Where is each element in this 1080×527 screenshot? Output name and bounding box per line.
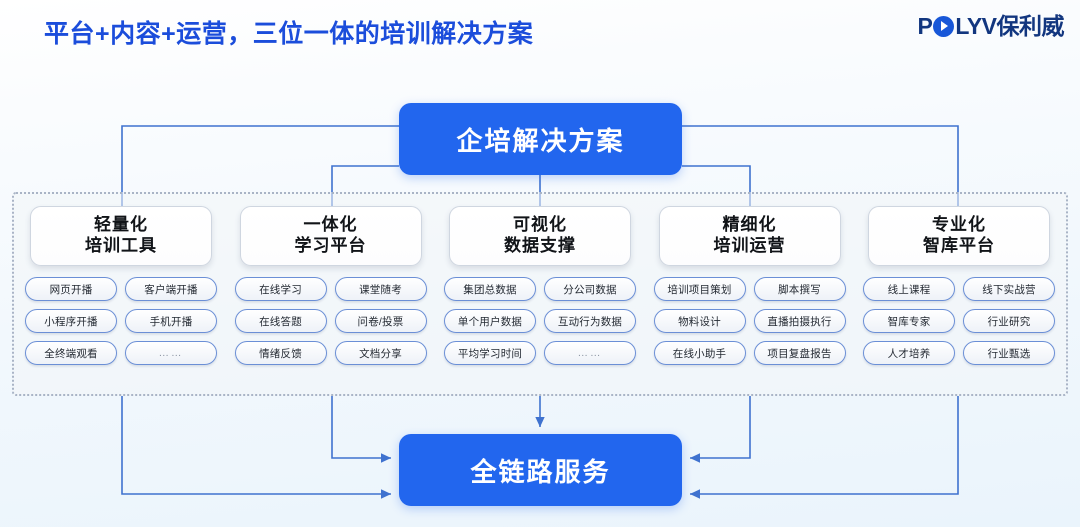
pillar-tag[interactable]: 在线答题 xyxy=(235,309,327,333)
pillar-tag-grid: 网页开播 客户端开播 小程序开播 手机开播 全终端观看 …… xyxy=(25,277,217,365)
pillar-title-line1: 精细化 xyxy=(723,215,777,236)
pillar-tag[interactable]: 人才培养 xyxy=(863,341,955,365)
pillar-tag[interactable]: 线上课程 xyxy=(863,277,955,301)
pillar-tag[interactable]: 全终端观看 xyxy=(25,341,117,365)
pillar-title-line1: 专业化 xyxy=(932,215,986,236)
pillar-tag[interactable]: 平均学习时间 xyxy=(444,341,536,365)
pillar-tag[interactable]: 项目复盘报告 xyxy=(754,341,846,365)
pillar-title-line2: 培训运营 xyxy=(714,236,786,257)
pillar-tag[interactable]: 文档分享 xyxy=(335,341,427,365)
pillar-title-line2: 数据支撑 xyxy=(504,236,576,257)
pillar-tag-grid: 培训项目策划 脚本撰写 物料设计 直播拍摄执行 在线小助手 项目复盘报告 xyxy=(654,277,846,365)
pillar-tag[interactable]: 手机开播 xyxy=(125,309,217,333)
full-chain-service-box[interactable]: 全链路服务 xyxy=(399,434,682,506)
pillar-tag[interactable]: 培训项目策划 xyxy=(654,277,746,301)
pillar-title-line2: 智库平台 xyxy=(923,236,995,257)
pillar-tag[interactable]: 集团总数据 xyxy=(444,277,536,301)
pillar-list: 轻量化 培训工具 网页开播 客户端开播 小程序开播 手机开播 全终端观看 …… … xyxy=(12,192,1068,396)
solution-top-box[interactable]: 企培解决方案 xyxy=(399,103,682,175)
pillar-refined-training-operations: 精细化 培训运营 培训项目策划 脚本撰写 物料设计 直播拍摄执行 在线小助手 项… xyxy=(651,192,849,396)
pillar-tag[interactable]: 情绪反馈 xyxy=(235,341,327,365)
pillar-tag[interactable]: 互动行为数据 xyxy=(544,309,636,333)
pillar-title-line1: 一体化 xyxy=(304,215,358,236)
pillar-tag[interactable]: 小程序开播 xyxy=(25,309,117,333)
pillar-title-line2: 学习平台 xyxy=(295,236,367,257)
pillar-tag[interactable]: 脚本撰写 xyxy=(754,277,846,301)
pillar-tag[interactable]: 智库专家 xyxy=(863,309,955,333)
pillar-title-line2: 培训工具 xyxy=(85,236,157,257)
pillar-tag[interactable]: 行业甄选 xyxy=(963,341,1055,365)
pillar-tag-more[interactable]: …… xyxy=(125,341,217,365)
pillar-tag-grid: 在线学习 课堂随考 在线答题 问卷/投票 情绪反馈 文档分享 xyxy=(235,277,427,365)
pillar-header-card[interactable]: 专业化 智库平台 xyxy=(868,206,1050,266)
pillar-visualized-data-support: 可视化 数据支撑 集团总数据 分公司数据 单个用户数据 互动行为数据 平均学习时… xyxy=(441,192,639,396)
pillar-lightweight-training-tools: 轻量化 培训工具 网页开播 客户端开播 小程序开播 手机开播 全终端观看 …… xyxy=(22,192,220,396)
pillar-tag-grid: 集团总数据 分公司数据 单个用户数据 互动行为数据 平均学习时间 …… xyxy=(444,277,636,365)
pillar-header-card[interactable]: 可视化 数据支撑 xyxy=(449,206,631,266)
solution-top-label: 企培解决方案 xyxy=(456,121,624,158)
full-chain-service-label: 全链路服务 xyxy=(470,452,610,489)
pillar-tag[interactable]: 客户端开播 xyxy=(125,277,217,301)
pillar-tag[interactable]: 网页开播 xyxy=(25,277,117,301)
pillar-tag[interactable]: 问卷/投票 xyxy=(335,309,427,333)
pillar-header-card[interactable]: 精细化 培训运营 xyxy=(659,206,841,266)
diagram-stage: 企培解决方案 轻量化 培训工具 网页开播 客户端开播 小程序开播 手机开播 全终… xyxy=(0,0,1080,527)
pillar-title-line1: 可视化 xyxy=(513,215,567,236)
pillar-tag[interactable]: 线下实战营 xyxy=(963,277,1055,301)
pillar-header-card[interactable]: 轻量化 培训工具 xyxy=(30,206,212,266)
pillar-integrated-learning-platform: 一体化 学习平台 在线学习 课堂随考 在线答题 问卷/投票 情绪反馈 文档分享 xyxy=(232,192,430,396)
pillar-tag[interactable]: 物料设计 xyxy=(654,309,746,333)
pillar-title-line1: 轻量化 xyxy=(94,215,148,236)
pillar-tag[interactable]: 单个用户数据 xyxy=(444,309,536,333)
pillar-professional-think-tank-platform: 专业化 智库平台 线上课程 线下实战营 智库专家 行业研究 人才培养 行业甄选 xyxy=(860,192,1058,396)
pillar-tag[interactable]: 分公司数据 xyxy=(544,277,636,301)
pillar-tag[interactable]: 课堂随考 xyxy=(335,277,427,301)
pillar-tag[interactable]: 在线学习 xyxy=(235,277,327,301)
pillar-tag[interactable]: 在线小助手 xyxy=(654,341,746,365)
pillar-tag[interactable]: 直播拍摄执行 xyxy=(754,309,846,333)
pillar-header-card[interactable]: 一体化 学习平台 xyxy=(240,206,422,266)
pillar-tag[interactable]: 行业研究 xyxy=(963,309,1055,333)
pillar-tag-more[interactable]: …… xyxy=(544,341,636,365)
pillar-tag-grid: 线上课程 线下实战营 智库专家 行业研究 人才培养 行业甄选 xyxy=(863,277,1055,365)
